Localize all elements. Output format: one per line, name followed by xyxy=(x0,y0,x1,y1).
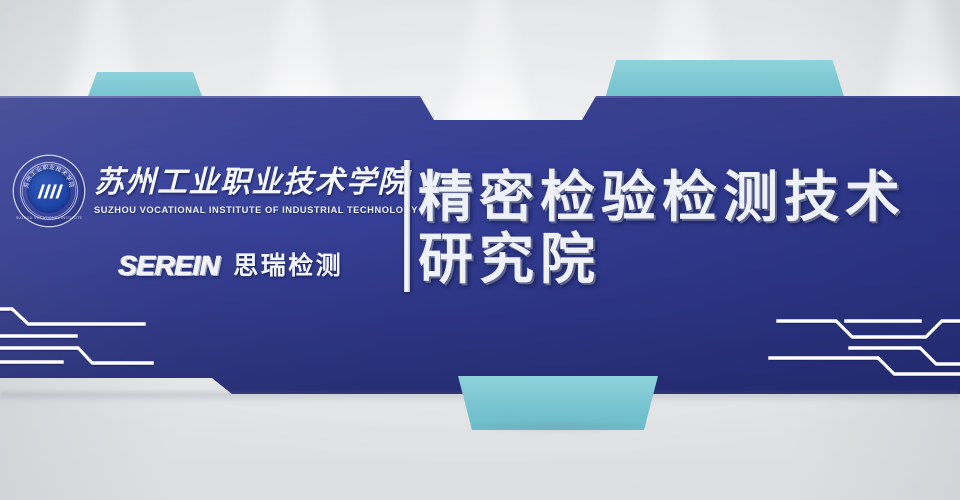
title-line-1: 精密检验检测技术 xyxy=(418,166,948,228)
teal-shape-bottom-center xyxy=(458,376,658,430)
crest-bottom-label: SUZHOU VOCATIONAL INSTITUTE xyxy=(16,216,83,220)
serein-wordmark: SEREIN xyxy=(118,252,219,280)
branding-block: 苏州工业职业技术学院 SUZHOU VOCATIONAL INSTITUTE 苏… xyxy=(14,156,394,292)
school-name-cn: 苏州工业职业技术学院 xyxy=(94,168,418,198)
vertical-divider xyxy=(404,160,410,292)
school-logo-row: 苏州工业职业技术学院 SUZHOU VOCATIONAL INSTITUTE 苏… xyxy=(14,156,418,226)
school-crest-logo: 苏州工业职业技术学院 SUZHOU VOCATIONAL INSTITUTE xyxy=(14,156,84,226)
school-name-en: SUZHOU VOCATIONAL INSTITUTE OF INDUSTRIA… xyxy=(94,205,418,215)
teal-bottom-shadow xyxy=(470,424,648,433)
title-line-2: 研究院 xyxy=(418,228,948,290)
page-title: 精密检验检测技术 研究院 xyxy=(418,166,948,290)
serein-name-cn: 思瑞检测 xyxy=(233,254,343,279)
school-name-block: 苏州工业职业技术学院 SUZHOU VOCATIONAL INSTITUTE O… xyxy=(94,168,418,215)
partner-logo-row: SEREIN 思瑞检测 xyxy=(118,252,343,280)
signage-scene: 苏州工业职业技术学院 SUZHOU VOCATIONAL INSTITUTE 苏… xyxy=(0,0,960,500)
